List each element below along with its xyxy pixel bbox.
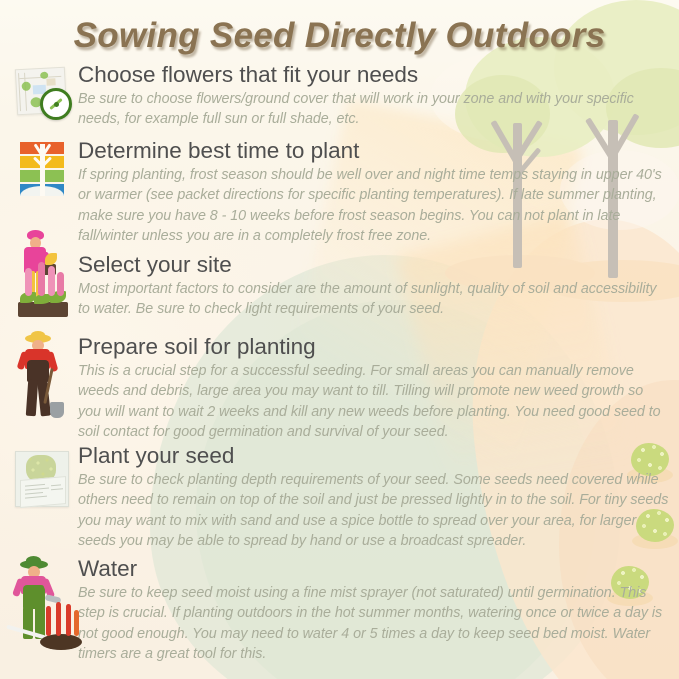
step-body: If spring planting, frost season should … (78, 165, 669, 246)
shovel-blade (50, 402, 64, 418)
step-heading: Plant your seed (78, 443, 669, 469)
step-text: Plant your seed Be sure to check plantin… (78, 443, 669, 551)
step-heading: Determine best time to plant (78, 138, 669, 164)
step-icon (12, 62, 72, 124)
step-icon (8, 556, 78, 652)
soil-mound (40, 634, 82, 650)
pot-foliage (45, 253, 57, 265)
gardener-with-shovel-icon (12, 332, 72, 424)
step-item: Prepare soil for planting This is a cruc… (0, 334, 669, 442)
gardener-watering-icon (8, 556, 78, 652)
packet-text-line (25, 487, 49, 490)
foxglove-spike (25, 268, 32, 296)
seasons-bands (20, 142, 64, 198)
red-flower-spike (66, 604, 71, 636)
step-item: Plant your seed Be sure to check plantin… (0, 443, 669, 551)
plan-planting-bed (22, 82, 31, 91)
step-heading: Prepare soil for planting (78, 334, 669, 360)
planter-box (18, 302, 68, 317)
garden-plan-compass-icon (12, 62, 72, 124)
red-flower-spike (46, 606, 51, 636)
step-body: Be sure to choose flowers/ground cover t… (78, 89, 669, 130)
step-icon (12, 332, 72, 424)
step-text: Prepare soil for planting This is a cruc… (78, 334, 669, 442)
packet-text-line (25, 484, 45, 487)
gardener-leg (26, 380, 38, 417)
packet-text-line (25, 496, 47, 499)
sun-hat-crown (26, 556, 41, 565)
foxglove-spike (48, 266, 55, 296)
step-item: Determine best time to plant If spring p… (0, 138, 669, 246)
red-flower-spike (74, 610, 79, 636)
step-body: Be sure to keep seed moist using a fine … (78, 583, 669, 664)
step-text: Choose flowers that fit your needs Be su… (78, 62, 669, 130)
compass-icon (40, 88, 72, 120)
step-text: Water Be sure to keep seed moist using a… (78, 556, 669, 664)
infographic-poster: Sowing Seed Directly Outdoors (0, 0, 679, 679)
poster-title: Sowing Seed Directly Outdoors (0, 16, 679, 56)
step-heading: Water (78, 556, 669, 582)
foxglove-spike (57, 272, 64, 296)
step-body: Most important factors to consider are t… (78, 279, 669, 320)
step-icon (12, 447, 72, 509)
compass-pivot (54, 102, 59, 107)
gardener-overalls (23, 585, 45, 609)
plan-building (46, 78, 55, 85)
packet-text-line (25, 492, 43, 495)
step-icon (12, 138, 72, 200)
gardener-with-flowers-icon (12, 228, 72, 322)
seed-packet-icon (12, 447, 72, 509)
seed-envelope (20, 476, 66, 508)
step-heading: Select your site (78, 252, 669, 278)
packet-text-line (51, 488, 63, 490)
straw-hat-crown (31, 331, 45, 339)
step-heading: Choose flowers that fit your needs (78, 62, 669, 88)
step-item: Select your site Most important factors … (0, 252, 669, 320)
gardener-overalls (27, 360, 49, 382)
step-text: Select your site Most important factors … (78, 252, 669, 320)
step-body: Be sure to check planting depth requirem… (78, 470, 669, 551)
step-item: Water Be sure to keep seed moist using a… (0, 556, 669, 664)
foxglove-spike (38, 262, 45, 296)
step-body: This is a crucial step for a successful … (78, 361, 669, 442)
step-item: Choose flowers that fit your needs Be su… (0, 62, 669, 130)
seed-packet-photo (15, 451, 69, 507)
red-flower-spike (56, 602, 61, 636)
step-text: Determine best time to plant If spring p… (78, 138, 669, 246)
four-seasons-icon (12, 138, 72, 200)
packet-text-line (51, 484, 61, 486)
step-icon (12, 228, 72, 322)
